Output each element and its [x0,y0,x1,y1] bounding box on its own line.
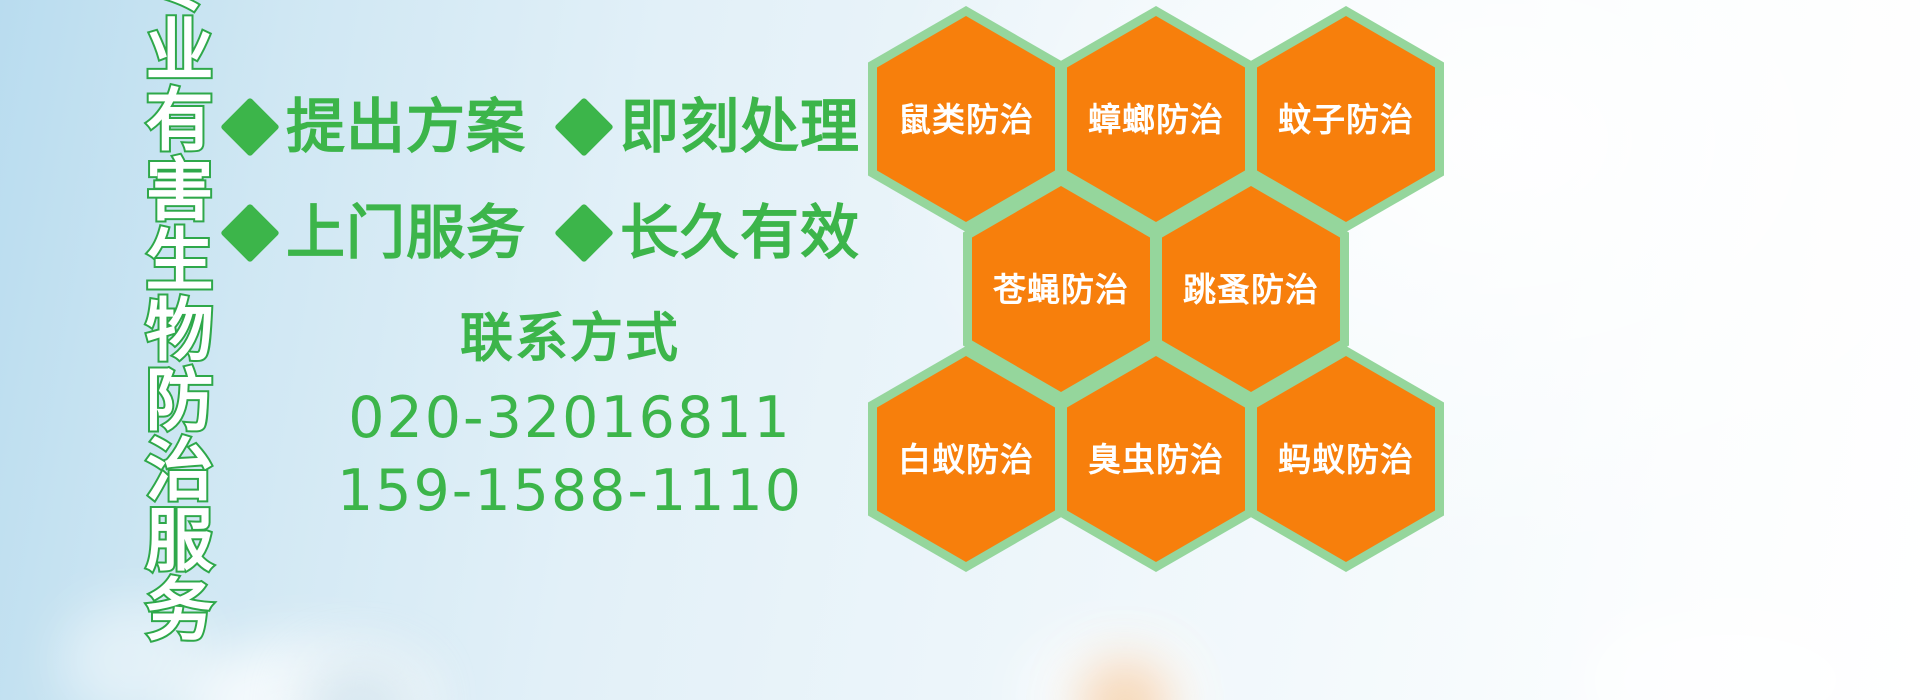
service-label: 蚊子防治 [1278,103,1414,136]
diamond-bullet-icon [220,97,280,157]
service-label: 鼠类防治 [898,103,1034,136]
service-label: 苍蝇防治 [993,273,1129,306]
phone-number-mobile[interactable]: 159-1588-1110 [300,455,840,528]
feature-row: 提出方案 即刻处理 [228,74,868,180]
service-label: 跳蚤防治 [1183,273,1319,306]
diamond-bullet-icon [554,97,614,157]
feature-label: 上门服务 [286,204,526,263]
service-label: 臭虫防治 [1088,443,1224,476]
background-bokeh-5 [1580,600,1880,700]
service-label: 蟑螂防治 [1088,103,1224,136]
diamond-bullet-icon [220,203,280,263]
promo-banner: 专业有害生物防治服务 提出方案 即刻处理 上门服务 长久有效 联系方式 [0,0,1920,700]
service-honeycomb: 鼠类防治 蟑螂防治 蚊子防治 苍蝇防治 跳蚤防治 白蚁防治 臭虫防治 [862,0,1462,554]
service-label: 白蚁防治 [898,443,1034,476]
background-bokeh-1 [180,640,440,700]
contact-block: 联系方式 020-32016811 159-1588-1110 [300,310,840,528]
diamond-bullet-icon [554,203,614,263]
background-bokeh-2 [300,660,420,700]
feature-label: 长久有效 [620,204,860,263]
feature-item-jikechuli: 即刻处理 [562,98,860,157]
feature-item-shangmenfuwu: 上门服务 [228,204,526,263]
phone-number-landline[interactable]: 020-32016811 [300,382,840,455]
feature-list: 提出方案 即刻处理 上门服务 长久有效 [228,74,868,286]
contact-title: 联系方式 [300,310,840,368]
feature-label: 即刻处理 [620,98,860,157]
feature-row: 上门服务 长久有效 [228,180,868,286]
background-bokeh-3 [1020,630,1210,700]
feature-item-changjiuyouxiao: 长久有效 [562,204,860,263]
vertical-headline: 专业有害生物防治服务 [104,14,208,574]
service-label: 蚂蚁防治 [1278,443,1414,476]
feature-label: 提出方案 [286,98,526,157]
background-bokeh-4 [1080,660,1170,700]
feature-item-tichufangan: 提出方案 [228,98,526,157]
